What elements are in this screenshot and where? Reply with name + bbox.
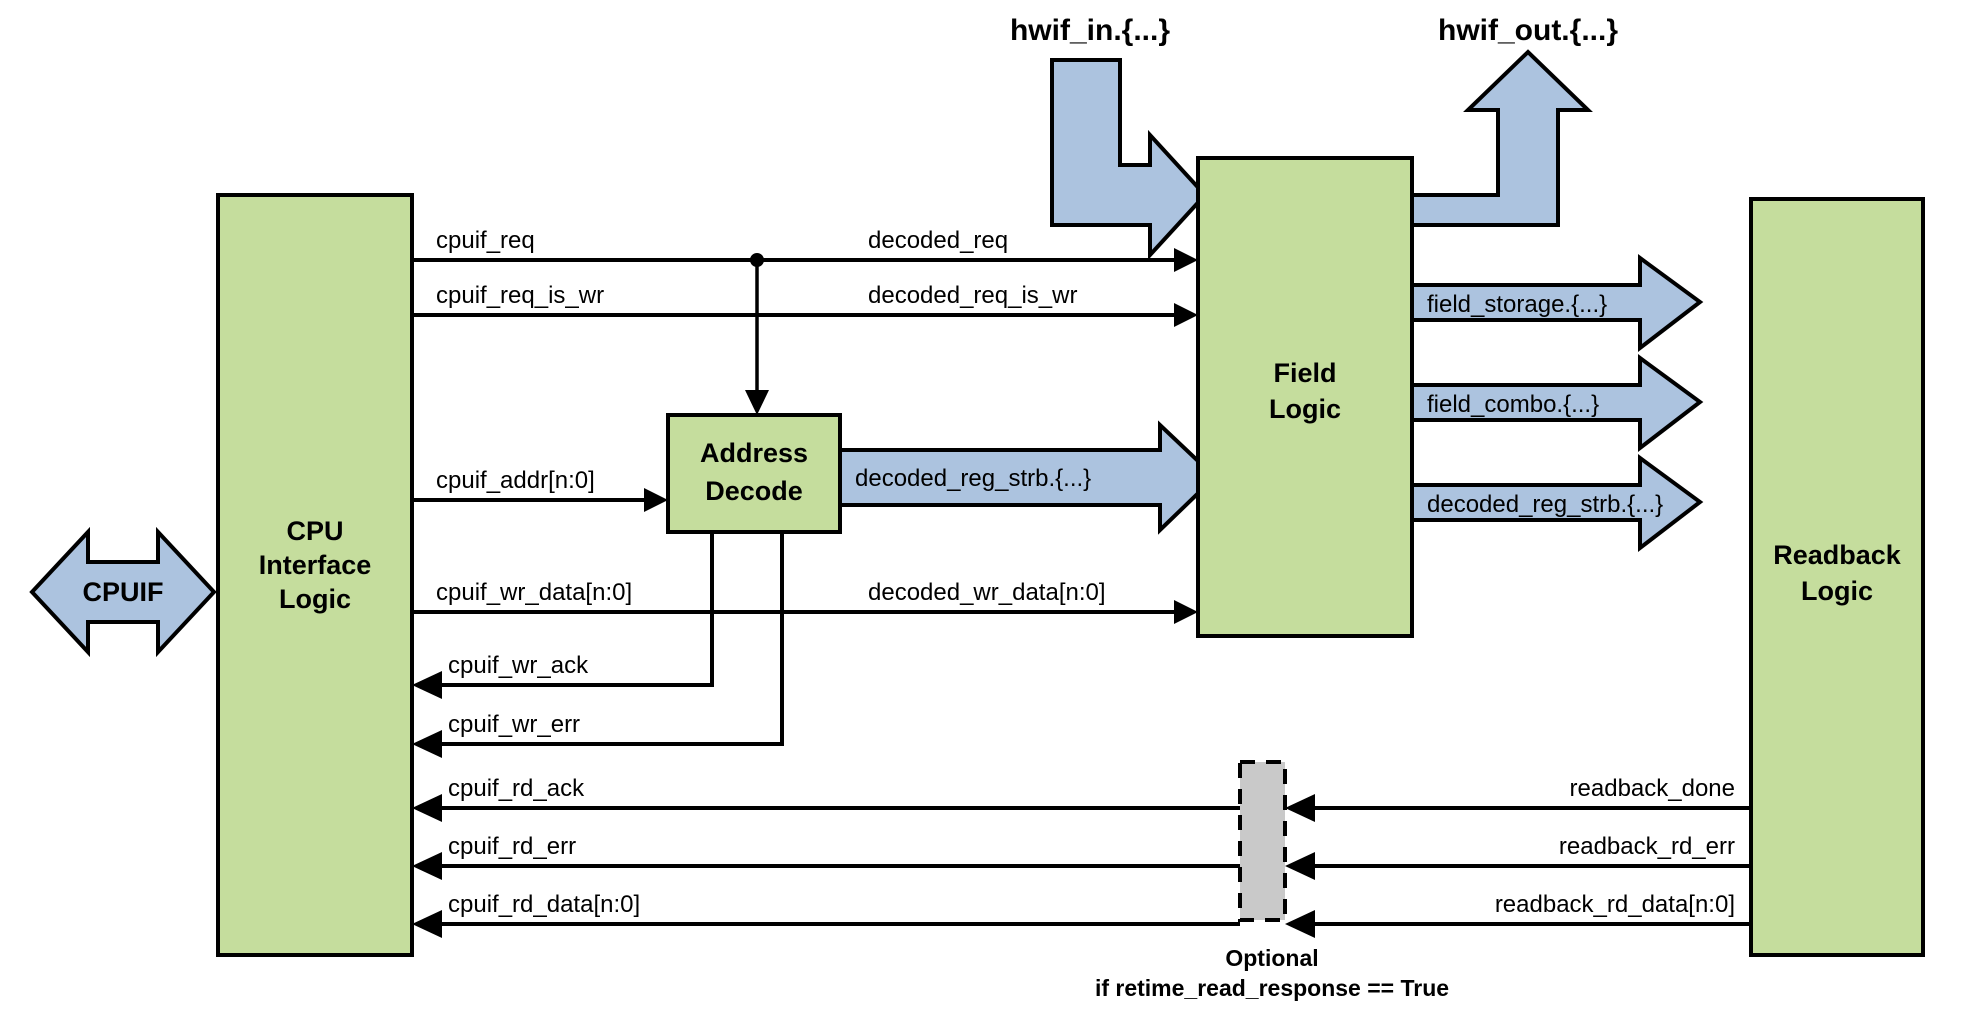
cpu-interface-label-line1: CPU	[286, 516, 343, 546]
field-logic-label-line1: Field	[1273, 358, 1336, 388]
field-combo-label: field_combo.{...}	[1427, 391, 1599, 418]
signal-label-cpuif-rd-data: cpuif_rd_data[n:0]	[448, 891, 640, 918]
signal-label-cpuif-wr-err: cpuif_wr_err	[448, 711, 580, 738]
signal-label-cpuif-rd-ack: cpuif_rd_ack	[448, 775, 585, 802]
signal-label-readback-done: readback_done	[1570, 775, 1735, 802]
signal-label-decoded-req: decoded_req	[868, 227, 1008, 254]
signal-label-cpuif-rd-err: cpuif_rd_err	[448, 833, 576, 860]
cpu-interface-label-line2: Interface	[259, 550, 372, 580]
address-decode-label-line2: Decode	[705, 476, 803, 506]
bus-arrow-hwif-out	[1412, 52, 1588, 225]
signal-label-cpuif-wr-ack: cpuif_wr_ack	[448, 652, 589, 679]
field-storage-label: field_storage.{...}	[1427, 291, 1607, 318]
bus-arrow-hwif-in	[1052, 60, 1205, 255]
optional-caption-line2: if retime_read_response == True	[1095, 975, 1449, 1001]
hwif-out-label: hwif_out.{...}	[1438, 14, 1618, 47]
block-address-decode[interactable]	[668, 415, 840, 532]
diagram-canvas: CPU Interface Logic Address Decode Field…	[0, 0, 1972, 1022]
field-logic-label-line2: Logic	[1269, 394, 1341, 424]
wire-req-branch-to-address-decode	[745, 253, 769, 415]
readback-logic-label-line2: Logic	[1801, 576, 1873, 606]
signal-label-cpuif-req-is-wr: cpuif_req_is_wr	[436, 282, 604, 309]
block-optional-retime[interactable]	[1240, 762, 1285, 920]
signal-label-cpuif-req: cpuif_req	[436, 227, 535, 254]
signal-label-cpuif-addr: cpuif_addr[n:0]	[436, 467, 595, 494]
decoded-reg-strb-readback-label: decoded_reg_strb.{...}	[1427, 491, 1663, 518]
readback-logic-label-line1: Readback	[1773, 540, 1902, 570]
cpuif-bus-label: CPUIF	[83, 577, 164, 607]
address-decode-label-line1: Address	[700, 438, 808, 468]
cpu-interface-label-line3: Logic	[279, 584, 351, 614]
signal-label-decoded-wr-data: decoded_wr_data[n:0]	[868, 579, 1106, 606]
decoded-reg-strb-field-label: decoded_reg_strb.{...}	[855, 465, 1091, 492]
signal-label-decoded-req-is-wr: decoded_req_is_wr	[868, 282, 1077, 309]
signal-label-readback-rd-data: readback_rd_data[n:0]	[1495, 891, 1735, 918]
signal-label-readback-rd-err: readback_rd_err	[1559, 833, 1735, 860]
hwif-in-label: hwif_in.{...}	[1010, 14, 1170, 47]
signal-label-cpuif-wr-data: cpuif_wr_data[n:0]	[436, 579, 632, 606]
optional-caption-line1: Optional	[1225, 945, 1318, 971]
